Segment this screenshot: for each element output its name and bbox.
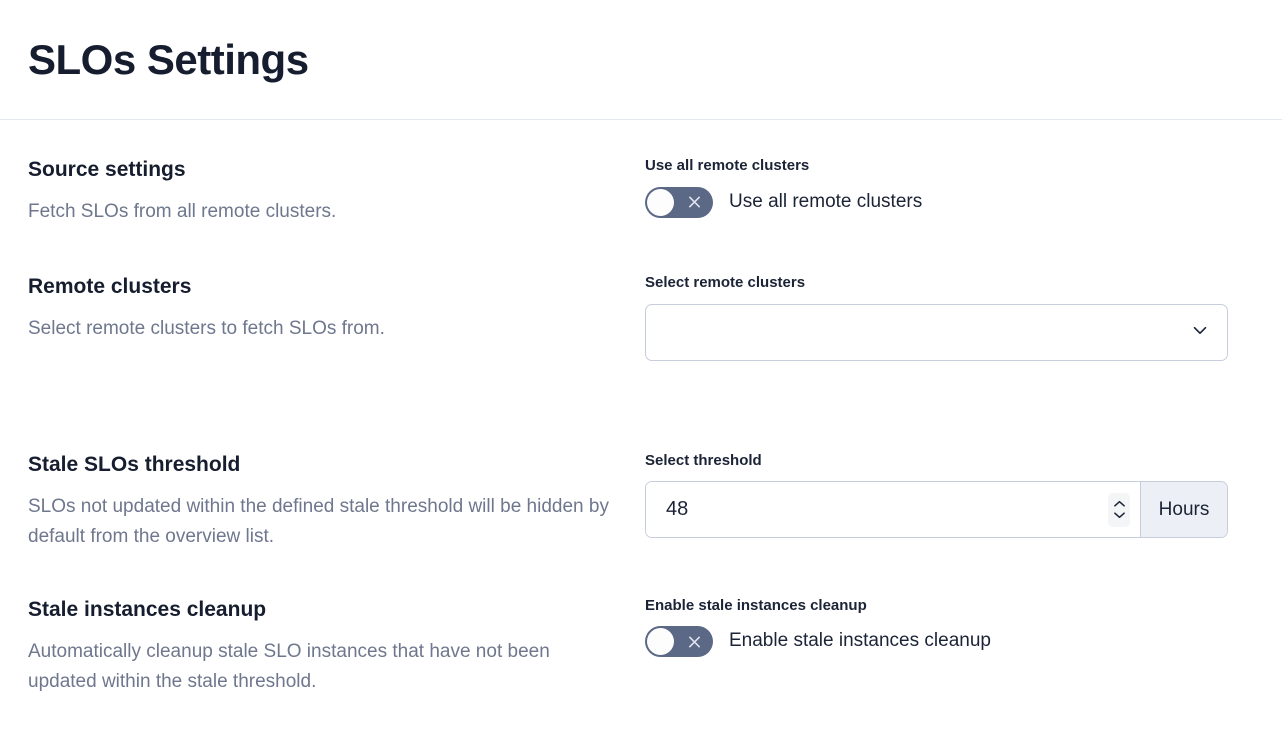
section-remote-clusters: Remote clusters Select remote clusters t… [28,275,1254,361]
section-heading: Stale SLOs threshold [28,453,625,476]
toggle-row-use-all-remote-clusters: Use all remote clusters [645,187,1254,218]
section-description: SLOs not updated within the defined stal… [28,492,613,552]
section-heading: Source settings [28,158,625,181]
section-source-settings-info: Source settings Fetch SLOs from all remo… [28,158,645,227]
toggle-row-enable-stale-instances-cleanup: Enable stale instances cleanup [645,626,1254,657]
section-description: Automatically cleanup stale SLO instance… [28,637,613,697]
page-header: SLOs Settings [0,0,1282,120]
section-stale-slos-threshold-info: Stale SLOs threshold SLOs not updated wi… [28,453,645,552]
toggle-enable-stale-instances-cleanup[interactable] [645,626,713,657]
settings-body: Source settings Fetch SLOs from all remo… [0,120,1282,697]
close-x-icon [687,634,702,649]
toggle-label-enable-stale-instances-cleanup[interactable]: Enable stale instances cleanup [729,630,991,653]
toggle-label-use-all-remote-clusters[interactable]: Use all remote clusters [729,191,922,214]
section-stale-instances-cleanup-info: Stale instances cleanup Automatically cl… [28,598,645,697]
select-remote-clusters[interactable] [645,304,1228,361]
section-description: Fetch SLOs from all remote clusters. [28,197,613,227]
section-stale-instances-cleanup: Stale instances cleanup Automatically cl… [28,598,1254,697]
threshold-input-group: Hours [645,481,1228,538]
section-remote-clusters-control: Select remote clusters [645,275,1254,361]
field-label-select-remote-clusters: Select remote clusters [645,275,1254,292]
section-remote-clusters-info: Remote clusters Select remote clusters t… [28,275,645,344]
section-stale-slos-threshold: Stale SLOs threshold SLOs not updated wi… [28,453,1254,552]
threshold-input[interactable] [666,498,1108,521]
section-stale-slos-threshold-control: Select threshold Hours [645,453,1254,539]
section-stale-instances-cleanup-control: Enable stale instances cleanup Enable st… [645,598,1254,658]
toggle-knob [647,189,674,216]
chevron-down-icon[interactable] [1189,319,1211,346]
field-label-select-threshold: Select threshold [645,453,1254,470]
section-source-settings: Source settings Fetch SLOs from all remo… [28,158,1254,227]
threshold-number-field[interactable] [646,482,1140,537]
section-source-settings-control: Use all remote clusters Use all remote c… [645,158,1254,218]
field-label-enable-stale-instances-cleanup: Enable stale instances cleanup [645,598,1254,615]
toggle-knob [647,628,674,655]
threshold-unit-addon: Hours [1140,482,1227,537]
section-heading: Stale instances cleanup [28,598,625,621]
section-description: Select remote clusters to fetch SLOs fro… [28,314,613,344]
stepper-up-down-icon[interactable] [1108,493,1130,527]
close-x-icon [687,195,702,210]
toggle-use-all-remote-clusters[interactable] [645,187,713,218]
section-heading: Remote clusters [28,275,625,298]
page-title: SLOs Settings [28,39,309,81]
field-label-use-all-remote-clusters: Use all remote clusters [645,158,1254,175]
